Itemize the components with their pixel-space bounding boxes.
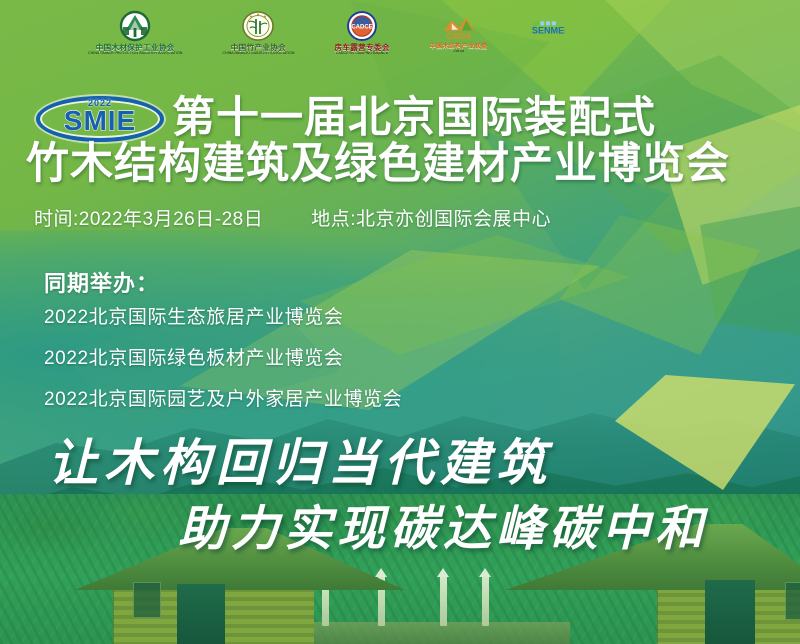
concurrent-event-item: 2022北京国际生态旅居产业博览会 — [44, 302, 402, 329]
sponsor-logo-subtext: CWSA — [453, 50, 464, 54]
sponsor-logo-china-bamboo-association[interactable]: 中国竹产业协会 CHINA BAMBOO INDUSTRY ASSOCIATIO… — [222, 10, 294, 62]
concurrent-events-list: 2022北京国际生态旅居产业博览会 2022北京国际绿色板材产业博览会 2022… — [44, 302, 402, 411]
house-roof-icon: CWSA — [440, 10, 478, 44]
concurrent-events-heading: 同期举办： — [44, 266, 159, 298]
sponsor-logo-senmei[interactable]: SENMEi SENMEi — [527, 10, 565, 62]
sponsor-logo-cadce-rv-camping[interactable]: CADCE 房车露营专委会 CADCE RV CAMPING BRANCH — [334, 10, 389, 62]
slogan-line-1: 让木构回归当代建筑 — [48, 423, 552, 495]
tree-shield-icon — [116, 10, 154, 44]
bamboo-seal-icon — [239, 10, 277, 44]
concurrent-event-item: 2022北京国际园艺及户外家居产业博览会 — [44, 384, 402, 411]
event-meta-row: 时间:2022年3月26日-28日 地点:北京亦创国际会展中心 — [34, 204, 551, 231]
svg-text:CADCE: CADCE — [351, 25, 372, 31]
poster-content: 中国木材保护工业协会 CHINA TIMBER PROTECTION INDUS… — [0, 0, 800, 644]
sponsor-logo-cwsa-wood-structure[interactable]: CWSA 中国木结构产业联盟 CWSA — [430, 10, 488, 62]
headline-line-2: 竹木结构建筑及绿色建材产业博览会 — [26, 142, 730, 188]
slogan-line-2: 助力实现碳达峰碳中和 — [178, 489, 708, 559]
sponsor-logo-subtext: CADCE RV CAMPING BRANCH — [336, 52, 388, 56]
sponsor-logo-subtext: CHINA TIMBER PROTECTION INDUSTRY ASSOCIA… — [88, 52, 182, 56]
cadce-badge-icon: CADCE — [343, 10, 381, 44]
smie-emblem[interactable]: 2022 SMIE — [36, 96, 164, 142]
svg-text:CWSA: CWSA — [446, 32, 471, 41]
svg-text:SENMEi: SENMEi — [532, 26, 565, 36]
event-venue: 地点:北京亦创国际会展中心 — [311, 204, 551, 231]
leaf-wordmark-icon: SENMEi — [527, 10, 565, 44]
sponsor-logo-china-timber-association[interactable]: 中国木材保护工业协会 CHINA TIMBER PROTECTION INDUS… — [88, 10, 182, 62]
exhibition-poster: 中国木材保护工业协会 CHINA TIMBER PROTECTION INDUS… — [0, 0, 800, 644]
emblem-wordmark: SMIE — [36, 107, 164, 135]
concurrent-event-item: 2022北京国际绿色板材产业博览会 — [44, 343, 402, 370]
sponsor-logo-subtext: CHINA BAMBOO INDUSTRY ASSOCIATION — [222, 52, 294, 56]
headline-line-1: 第十一届北京国际装配式 — [172, 96, 656, 142]
sponsor-logo-bar: 中国木材保护工业协会 CHINA TIMBER PROTECTION INDUS… — [88, 8, 698, 64]
event-date: 时间:2022年3月26日-28日 — [34, 204, 263, 231]
